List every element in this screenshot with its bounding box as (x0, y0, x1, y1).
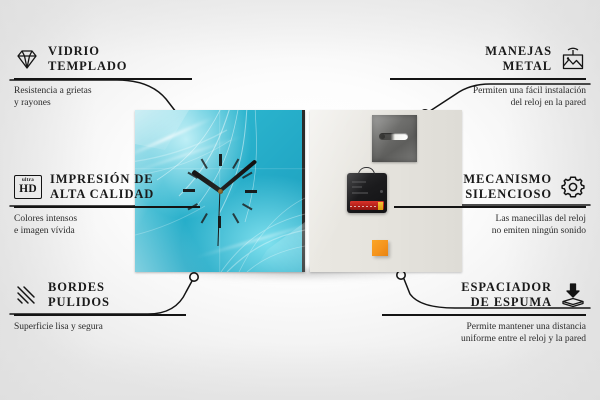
diamond-icon (14, 46, 40, 72)
mechanism-indicator-dot (380, 190, 383, 193)
infographic-canvas: VIDRIO TEMPLADO Resistencia a grietas y … (0, 0, 600, 400)
foam-spacer-pad (372, 240, 388, 256)
picture-hanger-icon (560, 46, 586, 72)
hanger-keyhole-slot (379, 133, 408, 140)
feature-manejas-metal: MANEJAS METAL Permiten una fácil instala… (390, 44, 586, 109)
clock-center-hub (218, 189, 223, 194)
mechanism-hanging-loop (358, 167, 375, 175)
feature-divider (390, 78, 586, 80)
gear-icon (560, 174, 586, 200)
ultra-hd-icon: ultra HD (14, 175, 42, 199)
feature-divider (14, 314, 186, 316)
foam-spacer-icon (560, 282, 586, 308)
feature-mecanismo-silencioso: MECANISMO SILENCIOSO Las manecillas del … (394, 172, 586, 237)
battery (350, 201, 384, 210)
feature-description: Superficie lisa y segura (14, 321, 186, 333)
feature-espaciador-de-espuma: ESPACIADOR DE ESPUMA Permite mantener un… (382, 280, 586, 345)
feature-title: IMPRESIÓN DE ALTA CALIDAD (50, 172, 154, 201)
clock-mechanism-box (347, 173, 387, 213)
feature-divider (14, 78, 192, 80)
feature-description: Resistencia a grietas y rayones (14, 85, 192, 109)
feature-divider (382, 314, 586, 316)
feature-title: BORDES PULIDOS (48, 280, 110, 309)
feature-title: ESPACIADOR DE ESPUMA (461, 280, 552, 309)
feature-impresion-de-alta-calidad: ultra HD IMPRESIÓN DE ALTA CALIDAD Color… (14, 172, 200, 237)
feature-title: VIDRIO TEMPLADO (48, 44, 127, 73)
polished-edges-icon (14, 282, 40, 308)
feature-bordes-pulidos: BORDES PULIDOS Superficie lisa y segura (14, 280, 186, 333)
feature-title: MECANISMO SILENCIOSO (463, 172, 552, 201)
feature-description: Permiten una fácil instalación del reloj… (390, 85, 586, 109)
feature-description: Permite mantener una distancia uniforme … (382, 321, 586, 345)
feature-description: Las manecillas del reloj no emiten ningú… (394, 213, 586, 237)
feature-description: Colores intensos e imagen vívida (14, 213, 200, 237)
feature-divider (394, 206, 586, 208)
metal-hanger-plate (372, 115, 417, 162)
feature-divider (14, 206, 200, 208)
ultra-hd-icon-main-text: HD (19, 184, 37, 196)
feature-vidrio-templado: VIDRIO TEMPLADO Resistencia a grietas y … (14, 44, 192, 109)
feature-title: MANEJAS METAL (485, 44, 552, 73)
